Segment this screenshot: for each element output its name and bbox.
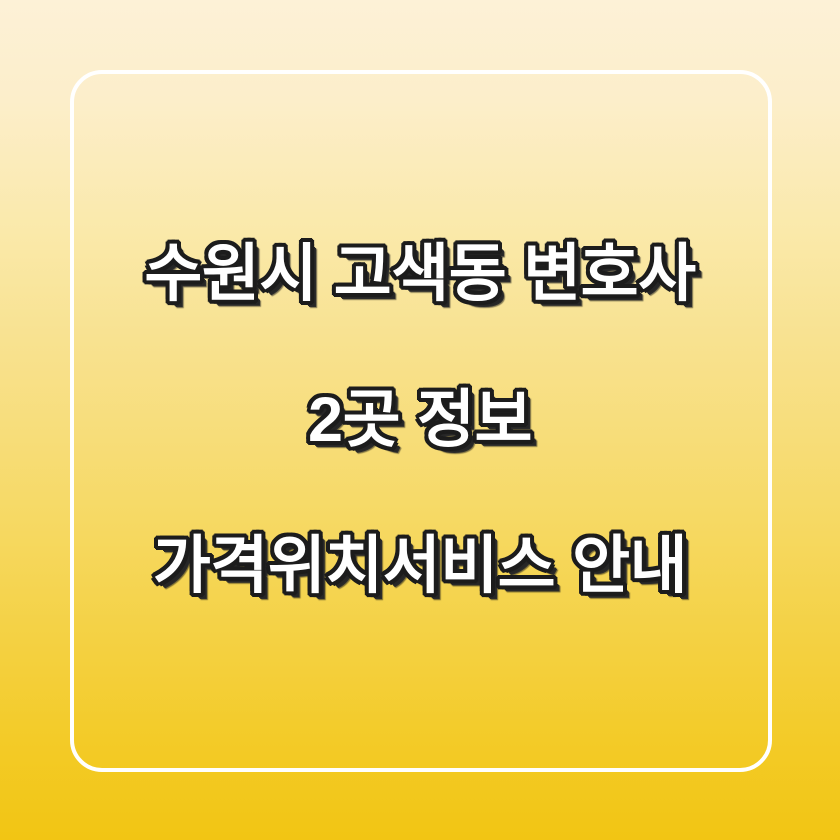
headline-line-1: 수원시 고색동 변호사 (144, 238, 695, 311)
headline-line-2: 2곳 정보 (144, 384, 695, 457)
headline-block: 수원시 고색동 변호사 2곳 정보 가격위치서비스 안내 (0, 0, 840, 840)
thumbnail-canvas: 수원시 고색동 변호사 2곳 정보 가격위치서비스 안내 (0, 0, 840, 840)
headline-line-3: 가격위치서비스 안내 (144, 530, 695, 603)
page-title: 수원시 고색동 변호사 2곳 정보 가격위치서비스 안내 (144, 165, 695, 676)
